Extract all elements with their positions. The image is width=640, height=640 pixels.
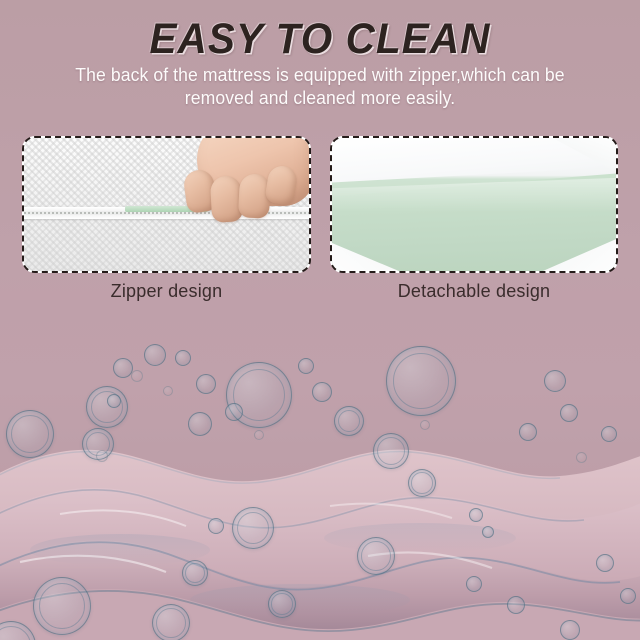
bubble-small <box>208 518 224 534</box>
page-title: EASY TO CLEAN <box>19 14 621 64</box>
bubble-small <box>560 404 578 422</box>
bubble-small <box>196 374 216 394</box>
bubble-small <box>225 403 243 421</box>
bubble-small <box>144 344 166 366</box>
subtitle-text: The back of the mattress is equipped wit… <box>54 64 586 109</box>
feature-card-zipper <box>22 136 311 273</box>
bubble <box>86 386 128 428</box>
caption-detachable: Detachable design <box>330 280 618 302</box>
bubble <box>373 433 409 469</box>
bubble-small <box>113 358 133 378</box>
bubble-distant <box>576 452 587 463</box>
bubble-small <box>601 426 617 442</box>
bubble-small <box>298 358 314 374</box>
bubble-small <box>188 412 212 436</box>
bubble <box>6 410 54 458</box>
bubble-small <box>107 394 121 408</box>
bubble <box>386 346 456 416</box>
bubble-small <box>519 423 537 441</box>
bubble-small <box>175 350 191 366</box>
bubble-small <box>482 526 494 538</box>
bubble-distant <box>420 420 430 430</box>
bubble <box>232 507 274 549</box>
feature-card-detachable <box>330 136 618 273</box>
bubble <box>33 577 91 635</box>
bubble <box>152 604 190 640</box>
bubble-small <box>596 554 614 572</box>
foam-highlight <box>332 178 616 213</box>
bubble-distant <box>254 430 264 440</box>
bubble <box>334 406 364 436</box>
wave-dunes-illustration <box>0 300 640 640</box>
bubble-small <box>544 370 566 392</box>
bubble-small <box>620 588 636 604</box>
bubble <box>268 590 296 618</box>
bubble <box>182 560 208 586</box>
bubble-small <box>466 576 482 592</box>
bubble-small <box>507 596 525 614</box>
detachable-photo <box>332 138 616 271</box>
wave-bubble-scene <box>0 300 640 640</box>
bubble-distant <box>131 370 143 382</box>
hand-photo <box>179 136 311 242</box>
bubble-small <box>560 620 580 640</box>
bubble <box>357 537 395 575</box>
bubble <box>408 469 436 497</box>
bubble-small <box>312 382 332 402</box>
caption-zipper: Zipper design <box>22 280 311 302</box>
bubble-distant <box>163 386 173 396</box>
bubble-small <box>469 508 483 522</box>
product-poster: EASY TO CLEAN The back of the mattress i… <box>0 0 640 640</box>
bubble-distant <box>96 450 108 462</box>
